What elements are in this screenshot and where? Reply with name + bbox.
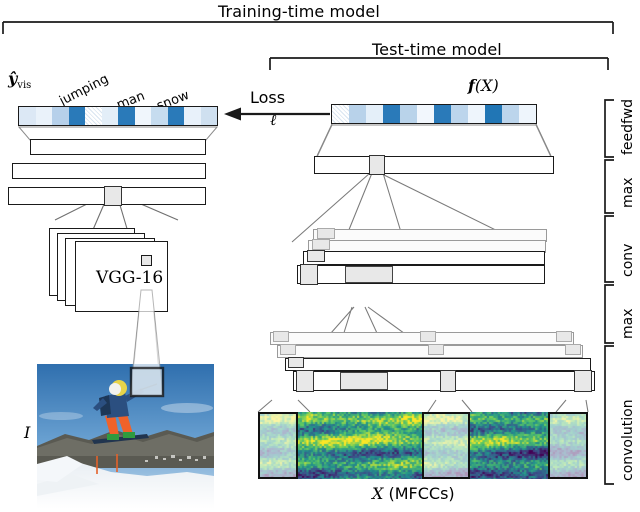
audio-fc-hotspot (369, 155, 385, 175)
prediction-cell (502, 105, 519, 123)
fx-output-label: f(X) (468, 76, 499, 95)
stage-label-feedfwd: feedfwd (620, 99, 636, 155)
conv-b-hotspot-4c (556, 331, 572, 342)
figure-canvas: Training-time model Test-time model feed… (0, 0, 640, 512)
prediction-cell (400, 105, 417, 123)
conv-a-map-2 (303, 251, 545, 265)
conv-b-hotspot-3c (565, 344, 581, 355)
mfcc-window-1 (258, 412, 298, 479)
loss-symbol: ℓ (270, 111, 276, 130)
loss-label: Loss (250, 88, 285, 107)
conv-a-hotspot-3 (312, 239, 330, 250)
mfcc-input-label: X (MFCCs) (372, 484, 455, 503)
prediction-cell (383, 105, 400, 123)
conv-b-hotspot-1b (440, 370, 456, 392)
prediction-cell (349, 105, 366, 123)
loss-arrow (224, 108, 330, 121)
prediction-cell (332, 105, 349, 123)
prediction-cell (201, 107, 218, 125)
prediction-cell (118, 107, 135, 125)
test-time-model-label: Test-time model (372, 40, 502, 59)
visual-fc-layer-1 (30, 139, 206, 155)
conv-a-receptive-band (345, 266, 393, 283)
prediction-cell (468, 105, 485, 123)
input-image-photo (37, 364, 214, 509)
stage-label-max-1: max (620, 177, 636, 208)
conv-b-hotspot-3b (428, 344, 444, 355)
prediction-cell (69, 107, 86, 125)
conv-b-hotspot-3a (280, 344, 296, 355)
audio-prediction-bar (331, 104, 537, 124)
f-symbol: f (468, 76, 475, 95)
conv-b-hotspot-4a (273, 331, 289, 342)
prediction-cell (485, 105, 502, 123)
stage-label-max-2: max (620, 308, 636, 339)
audio-fc-layer (314, 156, 554, 174)
conv-b-map-2 (285, 358, 591, 371)
conv-b-hotspot-4b (420, 331, 436, 342)
prediction-cell (85, 107, 102, 125)
photo-svg (37, 364, 214, 509)
y-hat-symbol: ŷ (8, 69, 17, 88)
stage-label-convolution: convolution (620, 399, 636, 481)
vgg-receptive-field-marker (141, 255, 152, 266)
y-vis-label: ŷvis (8, 69, 31, 91)
prediction-cell (451, 105, 468, 123)
conv-b-hotspot-1a (296, 370, 314, 392)
prediction-cell (36, 107, 53, 125)
prediction-cell (519, 105, 536, 123)
conv-a-hotspot-1 (300, 264, 318, 285)
mfcc-desc: (MFCCs) (388, 484, 454, 503)
stage-brackets (605, 100, 614, 484)
vgg-backbone-label: VGG-16 (96, 268, 163, 288)
mfcc-x-symbol: X (372, 484, 383, 503)
training-bracket (3, 22, 613, 34)
prediction-cell (135, 107, 152, 125)
training-time-model-label: Training-time model (218, 2, 380, 21)
conv-b-hotspot-2a (288, 357, 304, 368)
conv-a-hotspot-2 (307, 250, 325, 262)
conv-b-hotspot-1c (574, 370, 592, 392)
prediction-cell (19, 107, 36, 125)
test-bracket (270, 58, 608, 70)
conv-a-map-1 (297, 265, 545, 284)
prediction-cell (366, 105, 383, 123)
visual-prediction-bar (18, 106, 218, 126)
input-image-label: I (24, 423, 30, 442)
prediction-cell (168, 107, 185, 125)
prediction-cell (434, 105, 451, 123)
prediction-cell (184, 107, 201, 125)
mfcc-window-3 (548, 412, 588, 479)
conv-a-hotspot-4 (317, 228, 335, 239)
visual-fc-layer-2 (12, 163, 206, 179)
conv-b-receptive-band-1 (340, 372, 388, 390)
prediction-cell (417, 105, 434, 123)
prediction-cell (102, 107, 119, 125)
fx-argument: (X) (475, 76, 499, 95)
prediction-cell (52, 107, 69, 125)
visual-fc-hotspot (104, 186, 122, 206)
stage-label-conv: conv (620, 244, 636, 277)
mfcc-window-2 (422, 412, 470, 479)
prediction-cell (151, 107, 168, 125)
y-vis-subscript: vis (17, 80, 31, 91)
